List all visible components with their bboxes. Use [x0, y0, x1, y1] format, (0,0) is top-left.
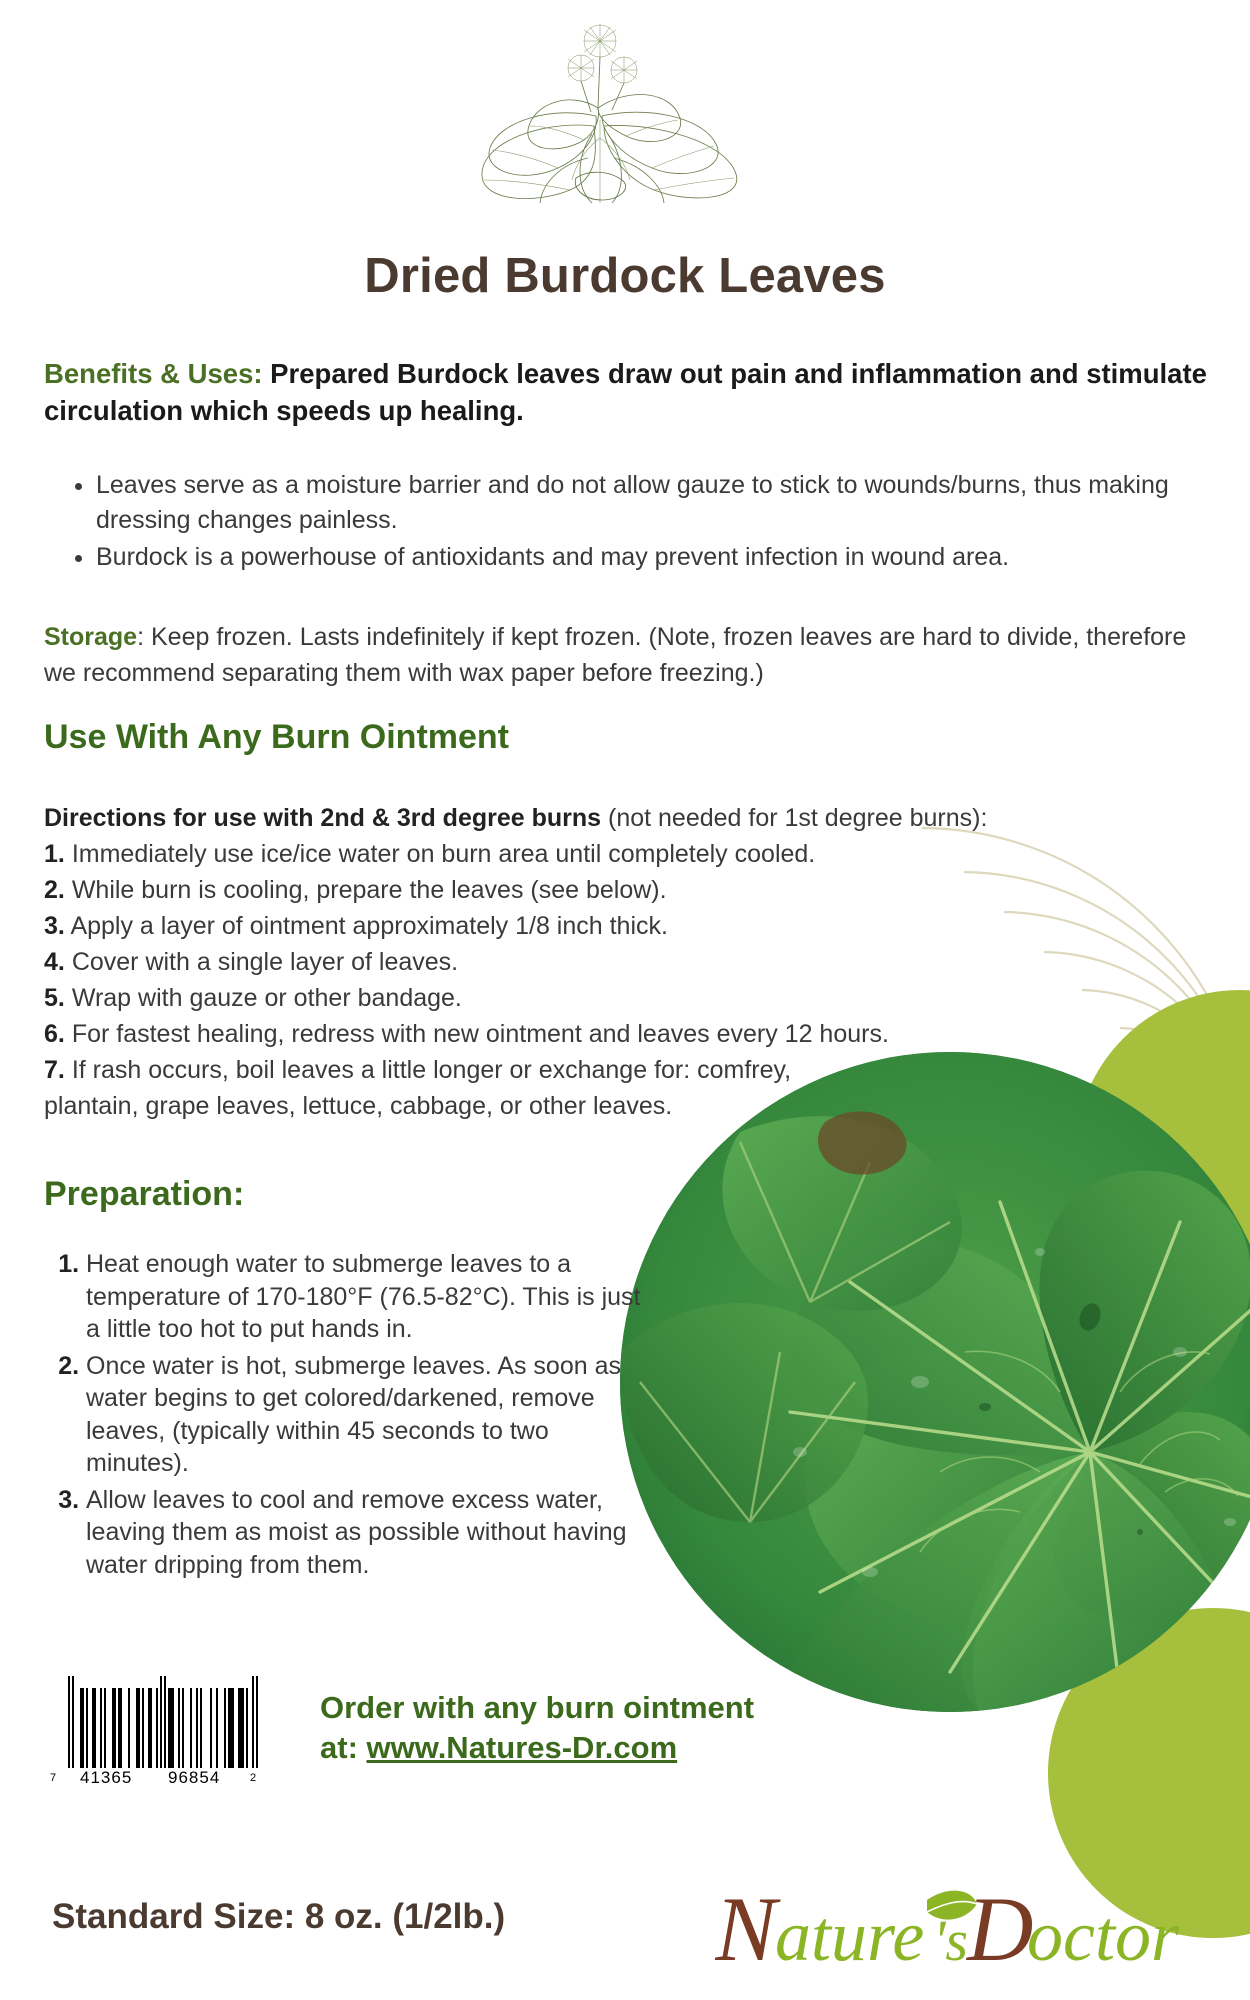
burdock-leaves-photo — [620, 1052, 1250, 1712]
direction-step: 7. If rash occurs, boil leaves a little … — [44, 1052, 1004, 1088]
svg-text:re: re — [867, 1896, 924, 1976]
direction-step: 1. Immediately use ice/ice water on burn… — [44, 836, 1004, 872]
step-number: 4. — [44, 948, 65, 976]
benefits-bullet-list: Leaves serve as a moisture barrier and d… — [68, 468, 1218, 578]
svg-text:octor: octor — [1027, 1896, 1180, 1976]
list-item: Heat enough water to submerge leaves to … — [86, 1248, 644, 1346]
benefits-label: Benefits & Uses: — [44, 358, 263, 389]
storage-paragraph: Storage: Keep frozen. Lasts indefinitely… — [44, 620, 1219, 691]
step-text: Apply a layer of ointment approximately … — [70, 912, 668, 940]
direction-step: 4. Cover with a single layer of leaves. — [44, 944, 1004, 980]
benefits-paragraph: Benefits & Uses: Prepared Burdock leaves… — [44, 355, 1219, 430]
svg-text:D: D — [965, 1878, 1033, 1980]
order-line-1: Order with any burn ointment — [320, 1688, 754, 1728]
svg-text:atu: atu — [775, 1896, 867, 1976]
direction-step-continuation: plantain, grape leaves, lettuce, cabbage… — [44, 1088, 1004, 1124]
direction-step: 3. Apply a layer of ointment approximate… — [44, 908, 1004, 944]
step-number: 1. — [44, 840, 65, 868]
barcode: 7 41365 96854 2 — [50, 1676, 270, 1788]
storage-label: Storage — [44, 623, 137, 651]
standard-size-label: Standard Size: 8 oz. (1/2lb.) — [52, 1897, 505, 1937]
order-line-2: at: www.Natures-Dr.com — [320, 1728, 754, 1768]
step-number: 5. — [44, 984, 65, 1012]
step-text: If rash occurs, boil leaves a little lon… — [72, 1056, 791, 1084]
step-text: Immediately use ice/ice water on burn ar… — [72, 840, 815, 868]
barcode-group-b: 96854 — [168, 1768, 220, 1788]
storage-text: : Keep frozen. Lasts indefinitely if kep… — [44, 623, 1186, 687]
natures-doctor-logo: N atu re 's D octor — [715, 1878, 1215, 1988]
barcode-bars — [68, 1676, 270, 1768]
list-item: Allow leaves to cool and remove excess w… — [86, 1484, 644, 1582]
barcode-left-digit: 7 — [50, 1772, 56, 1784]
use-with-ointment-heading: Use With Any Burn Ointment — [44, 718, 1219, 757]
direction-step: 2. While burn is cooling, prepare the le… — [44, 872, 1004, 908]
step-number: 6. — [44, 1020, 65, 1048]
barcode-group-a: 41365 — [80, 1768, 132, 1788]
preparation-heading: Preparation: — [44, 1175, 1219, 1214]
order-website-link[interactable]: www.Natures-Dr.com — [367, 1730, 678, 1765]
burdock-plant-illustration — [480, 8, 750, 203]
list-item: Once water is hot, submerge leaves. As s… — [86, 1350, 644, 1480]
order-prefix: at: — [320, 1730, 367, 1765]
step-text: While burn is cooling, prepare the leave… — [72, 876, 667, 904]
direction-step: 6. For fastest healing, redress with new… — [44, 1016, 1004, 1052]
list-item: Leaves serve as a moisture barrier and d… — [96, 468, 1218, 537]
order-callout: Order with any burn ointment at: www.Nat… — [320, 1688, 754, 1767]
step-text: For fastest healing, redress with new oi… — [72, 1020, 889, 1048]
step-text: Cover with a single layer of leaves. — [72, 948, 458, 976]
directions-block: Directions for use with 2nd & 3rd degree… — [44, 800, 1004, 1124]
directions-heading-rest: (not needed for 1st degree burns): — [601, 804, 987, 832]
step-text: Wrap with gauze or other bandage. — [72, 984, 462, 1012]
directions-heading-bold: Directions for use with 2nd & 3rd degree… — [44, 804, 601, 832]
barcode-right-digit: 2 — [250, 1772, 256, 1784]
step-number: 2. — [44, 876, 65, 904]
page-title: Dried Burdock Leaves — [0, 248, 1250, 304]
directions-heading: Directions for use with 2nd & 3rd degree… — [44, 800, 1004, 836]
barcode-digits: 7 41365 96854 2 — [50, 1768, 270, 1788]
direction-step: 5. Wrap with gauze or other bandage. — [44, 980, 1004, 1016]
step-number: 7. — [44, 1056, 65, 1084]
svg-text:N: N — [715, 1878, 781, 1980]
step-number: 3. — [44, 912, 65, 940]
list-item: Burdock is a powerhouse of antioxidants … — [96, 540, 1218, 575]
preparation-list: Heat enough water to submerge leaves to … — [44, 1248, 644, 1585]
